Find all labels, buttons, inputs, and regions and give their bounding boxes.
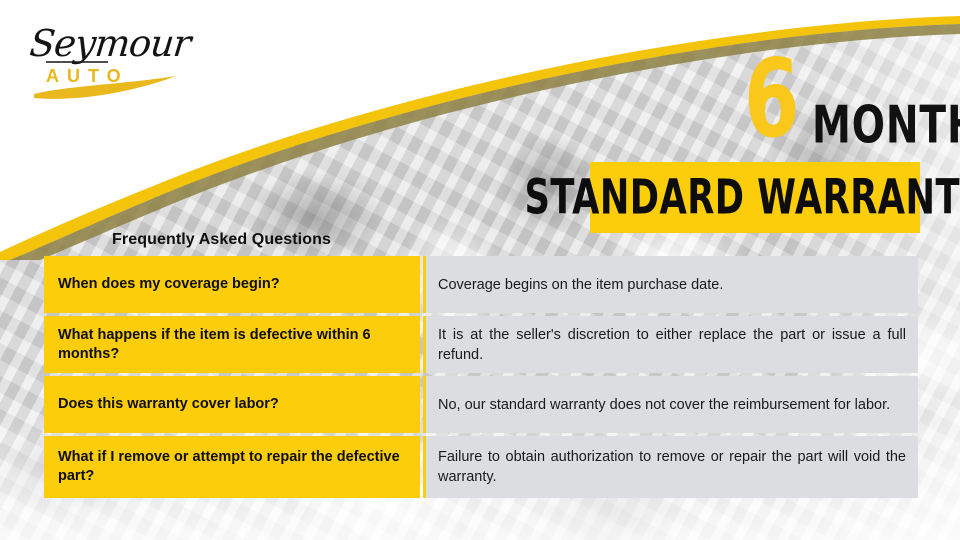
warranty-slide: Seymour AUTO 6 MONTH STANDARD WARRANTY F…: [0, 0, 960, 540]
seymour-auto-logo: Seymour AUTO: [16, 14, 206, 106]
faq-row: Does this warranty cover labor? No, our …: [44, 376, 918, 433]
faq-answer-cell: Coverage begins on the item purchase dat…: [423, 256, 918, 313]
faq-heading: Frequently Asked Questions: [112, 231, 331, 249]
faq-question-cell: What if I remove or attempt to repair th…: [44, 436, 420, 498]
faq-question-text: When does my coverage begin?: [58, 275, 280, 294]
logo-swoosh-icon: [16, 14, 206, 106]
duration-number: 6: [744, 46, 800, 154]
faq-row: What happens if the item is defective wi…: [44, 316, 918, 373]
faq-answer-text: Failure to obtain authorization to remov…: [438, 447, 906, 487]
faq-row: What if I remove or attempt to repair th…: [44, 436, 918, 498]
faq-row: When does my coverage begin? Coverage be…: [44, 256, 918, 313]
faq-question-cell: Does this warranty cover labor?: [44, 376, 420, 433]
faq-table: When does my coverage begin? Coverage be…: [44, 256, 918, 498]
duration-unit: MONTH: [812, 99, 960, 151]
faq-answer-text: Coverage begins on the item purchase dat…: [438, 275, 906, 295]
faq-question-cell: When does my coverage begin?: [44, 256, 420, 313]
faq-answer-cell: Failure to obtain authorization to remov…: [423, 436, 918, 498]
faq-answer-text: No, our standard warranty does not cover…: [438, 395, 906, 415]
standard-warranty-banner: STANDARD WARRANTY: [590, 162, 920, 233]
faq-question-cell: What happens if the item is defective wi…: [44, 316, 420, 373]
faq-question-text: What if I remove or attempt to repair th…: [58, 448, 408, 486]
faq-answer-text: It is at the seller's discretion to eith…: [438, 325, 906, 365]
faq-answer-cell: No, our standard warranty does not cover…: [423, 376, 918, 433]
faq-question-text: Does this warranty cover labor?: [58, 395, 279, 414]
faq-question-text: What happens if the item is defective wi…: [58, 326, 408, 364]
standard-warranty-banner-text: STANDARD WARRANTY: [524, 173, 960, 221]
faq-answer-cell: It is at the seller's discretion to eith…: [423, 316, 918, 373]
